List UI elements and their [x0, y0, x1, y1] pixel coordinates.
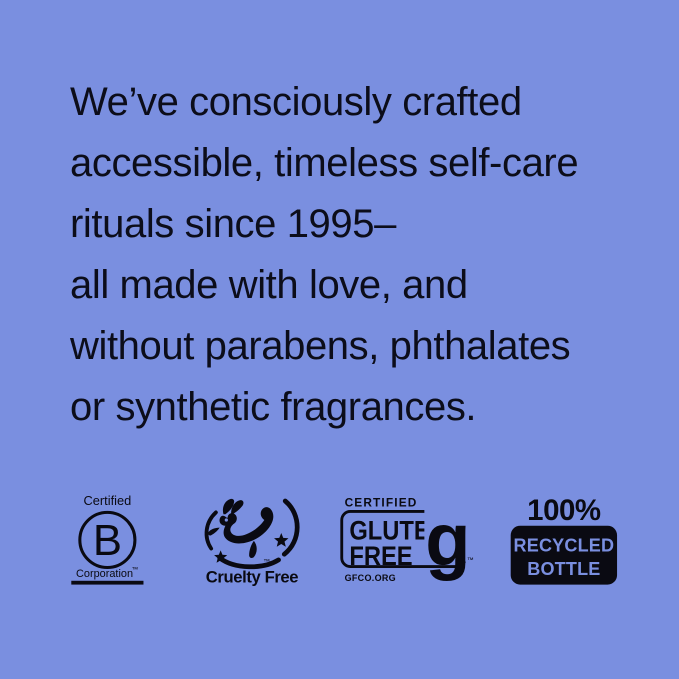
- headline-line-5: without parabens, phthalates: [70, 316, 670, 377]
- headline-line-6: or synthetic fragrances.: [70, 377, 670, 438]
- cruelty-free-trademark: ™: [263, 559, 270, 566]
- brand-values-card: We’ve consciously crafted accessible, ti…: [0, 0, 679, 679]
- cruelty-free-label: Cruelty Free: [206, 568, 299, 587]
- leaping-bunny-icon: ™ Cruelty Free: [195, 489, 309, 589]
- b-corp-letter: B: [93, 516, 122, 565]
- gluten-free-top-label: CERTIFIED: [344, 496, 417, 510]
- headline-line-1: We’ve consciously crafted: [70, 72, 670, 133]
- badge-recycled-bottle: 100% RECYCLED BOTTLE: [505, 489, 623, 589]
- headline-line-2: accessible, timeless self-care: [70, 133, 670, 194]
- recycled-line1: RECYCLED: [514, 535, 615, 555]
- certification-badge-row: Certified B Corporation ™: [58, 487, 623, 589]
- b-corp-underbar: [71, 581, 143, 585]
- b-corp-icon: Certified B Corporation ™: [58, 489, 157, 589]
- b-corp-bottom-label: Corporation: [76, 568, 133, 580]
- headline-block: We’ve consciously crafted accessible, ti…: [70, 72, 670, 438]
- gfco-gluten-free-icon: CERTIFIED GLUTEN FREE g ™ GFCO.ORG: [337, 489, 478, 589]
- gluten-free-trademark: ™: [467, 557, 474, 564]
- recycled-bottle-icon: 100% RECYCLED BOTTLE: [505, 489, 623, 589]
- gluten-free-g-mark: g: [424, 495, 470, 581]
- gluten-free-mark-letter: g: [425, 499, 470, 582]
- gluten-free-line2: FREE: [349, 542, 412, 572]
- b-corp-top-label: Certified: [84, 493, 132, 508]
- b-corp-trademark: ™: [132, 566, 139, 573]
- badge-gluten-free: CERTIFIED GLUTEN FREE g ™ GFCO.ORG: [337, 489, 478, 589]
- recycled-line2: BOTTLE: [528, 559, 601, 579]
- badge-b-corporation: Certified B Corporation ™: [58, 489, 157, 589]
- badge-cruelty-free: ™ Cruelty Free: [195, 489, 309, 589]
- bunny-star-right: [274, 533, 288, 547]
- gluten-free-url: GFCO.ORG: [344, 573, 395, 583]
- headline-line-3: rituals since 1995–: [70, 194, 670, 255]
- recycled-percent: 100%: [527, 494, 601, 527]
- headline-line-4: all made with love, and: [70, 255, 670, 316]
